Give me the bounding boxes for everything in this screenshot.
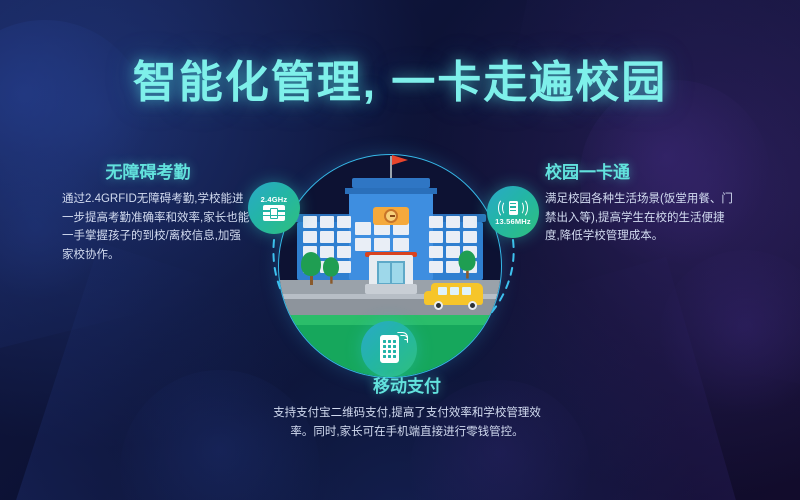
badge-nfc-13-56mhz[interactable]: 13.56MHz: [487, 186, 539, 238]
feature-mobile-payment: 移动支付 支持支付宝二维码支付,提高了支付效率和学校管理效率。同时,家长可在手机…: [262, 372, 552, 441]
badge-label: 2.4GHz: [261, 195, 288, 204]
feature-body: 通过2.4GRFID无障碍考勤,学校能进一步提高考勤准确率和效率,家长也能一手掌…: [62, 190, 252, 265]
feature-body: 满足校园各种生活场景(饭堂用餐、门禁出入等),提高学生在校的生活便捷度,降低学校…: [545, 190, 735, 246]
feature-heading: 移动支付: [262, 372, 552, 397]
feature-attendance: 无障碍考勤 通过2.4GRFID无障碍考勤,学校能进一步提高考勤准确率和效率,家…: [62, 158, 252, 265]
feature-heading: 校园一卡通: [545, 158, 735, 183]
school-bus-icon: [431, 283, 483, 305]
page-title: 智能化管理, 一卡走遍校园: [0, 46, 800, 110]
entrance-steps: [365, 284, 417, 294]
feature-campus-card: 校园一卡通 满足校园各种生活场景(饭堂用餐、门禁出入等),提高学生在校的生活便捷…: [545, 158, 735, 246]
feature-body: 支持支付宝二维码支付,提高了支付效率和学校管理效率。同时,家长可在手机端直接进行…: [262, 404, 552, 441]
background-glow: [660, 250, 800, 420]
clock-hand: [390, 215, 395, 217]
building-roof-band: [345, 188, 437, 194]
phone-qr-icon: [380, 335, 399, 363]
feature-heading: 无障碍考勤: [62, 158, 252, 183]
badge-mobile-payment[interactable]: [361, 321, 417, 377]
nfc-card-icon: [498, 199, 528, 217]
slide-canvas: 智能化管理, 一卡走遍校园: [0, 0, 800, 500]
flag-icon: [392, 155, 408, 165]
tree-icon: [301, 252, 321, 285]
badge-rfid-2-4ghz[interactable]: 2.4GHz: [248, 182, 300, 234]
window-grid: [355, 222, 409, 251]
badge-label: 13.56MHz: [495, 217, 531, 226]
tree-icon: [323, 257, 339, 283]
door-divider: [390, 261, 392, 285]
tree-icon: [459, 250, 476, 278]
building-core-roof: [352, 178, 430, 188]
signal-icon: [396, 331, 408, 343]
rfid-chip-icon: [263, 205, 285, 221]
